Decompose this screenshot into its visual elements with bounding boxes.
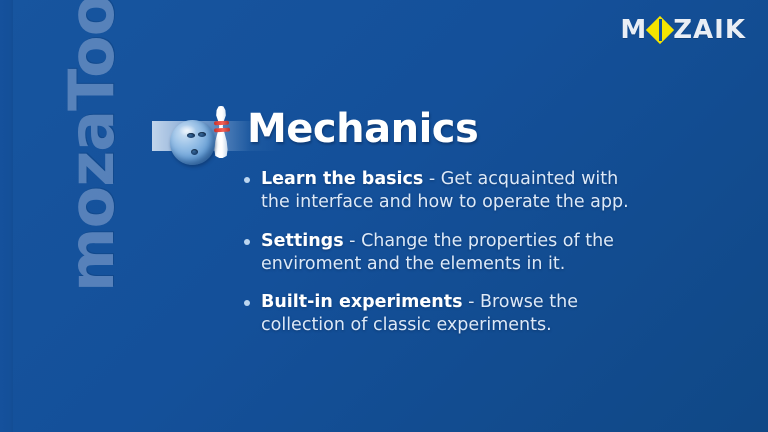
list-item-term: Built-in experiments [261,292,463,312]
title-row: Mechanics [152,103,572,165]
list-item-separator: - [423,169,440,189]
brand-logo: M ZAIK [620,16,746,43]
bowling-ball-and-pin-icon [162,103,252,165]
list-item: Learn the basics - Get acquainted with t… [243,168,648,215]
list-item-separator: - [344,231,361,251]
bullet-dot-icon [244,239,250,245]
brand-logo-text-right: ZAIK [673,17,746,43]
diamond-icon [649,19,671,41]
list-item-separator: - [463,292,480,312]
left-edge-band [0,0,13,432]
list-item-term: Learn the basics [261,169,423,189]
ball-hole-right [198,132,206,137]
bullet-dot-icon [244,300,250,306]
brand-logo-text-left: M [620,17,647,43]
list-item: Settings - Change the properties of the … [243,230,648,277]
presentation-slide: mozaTools M ZAIK Mechanics [0,0,768,432]
side-wordmark: mozaTools [52,0,132,296]
list-item: Built-in experiments - Browse the collec… [243,291,648,338]
ball-hole-bottom [191,149,198,155]
bowling-ball-icon [170,120,215,165]
side-wordmark-label: mozaTools [61,0,123,296]
ball-hole-left [187,133,195,138]
feature-bullet-list: Learn the basics - Get acquainted with t… [243,168,648,338]
page-title: Mechanics [247,107,478,151]
list-item-term: Settings [261,231,344,251]
bullet-dot-icon [244,177,250,183]
